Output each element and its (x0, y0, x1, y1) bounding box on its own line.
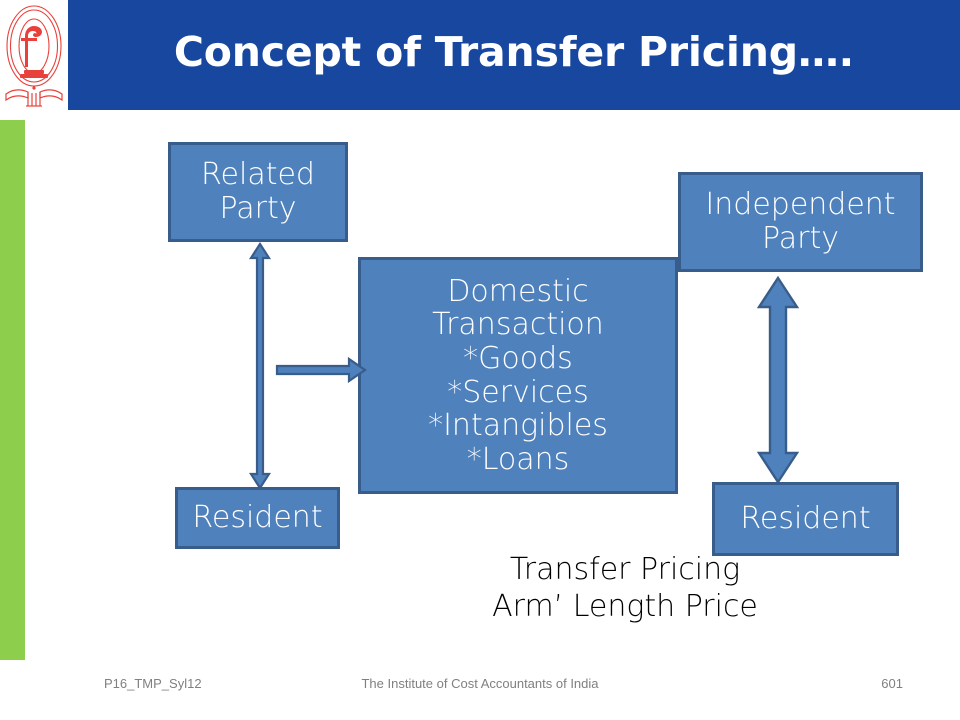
box-resident-right: Resident (712, 482, 899, 556)
box-resident-left-label: Resident (192, 501, 322, 535)
box-domestic-transaction: Domestic Transaction *Goods *Services *I… (358, 257, 678, 494)
box-related-party: Related Party (168, 142, 348, 242)
arrow-to-domestic-transaction-icon (275, 355, 367, 385)
institute-of-cost-accountants-of-india-logo (2, 2, 66, 110)
box-resident-left: Resident (175, 487, 340, 549)
arrow-related-party-resident-icon (245, 240, 275, 492)
box-related-party-line-1: Related (201, 158, 315, 192)
footer-institute-name: The Institute of Cost Accountants of Ind… (0, 676, 960, 691)
diagram-caption: Transfer Pricing Arm’ Length Price (390, 552, 860, 625)
diagram-caption-line-1: Transfer Pricing (390, 552, 860, 589)
box-resident-right-label: Resident (740, 502, 870, 536)
footer-page-number: 601 (881, 676, 903, 691)
arrow-independent-party-resident-icon (755, 275, 801, 485)
box-domestic-transaction-line-1: Domestic (428, 275, 608, 309)
slide: Concept of Transfer Pricing…. Related Pa… (0, 0, 960, 720)
box-independent-party-line-2: Party (705, 222, 895, 256)
box-domestic-transaction-line-5: *Intangibles (428, 409, 608, 443)
box-domestic-transaction-line-3: *Goods (428, 342, 608, 376)
box-independent-party: Independent Party (678, 172, 923, 272)
page-title: Concept of Transfer Pricing…. (68, 0, 960, 110)
box-independent-party-line-1: Independent (705, 188, 895, 222)
box-domestic-transaction-line-4: *Services (428, 376, 608, 410)
box-domestic-transaction-line-2: Transaction (428, 308, 608, 342)
diagram-caption-line-2: Arm’ Length Price (390, 589, 860, 626)
box-domestic-transaction-line-6: *Loans (428, 443, 608, 477)
footer: P16_TMP_Syl12 The Institute of Cost Acco… (0, 676, 960, 702)
box-related-party-line-2: Party (201, 192, 315, 226)
green-accent-strip (0, 120, 25, 660)
